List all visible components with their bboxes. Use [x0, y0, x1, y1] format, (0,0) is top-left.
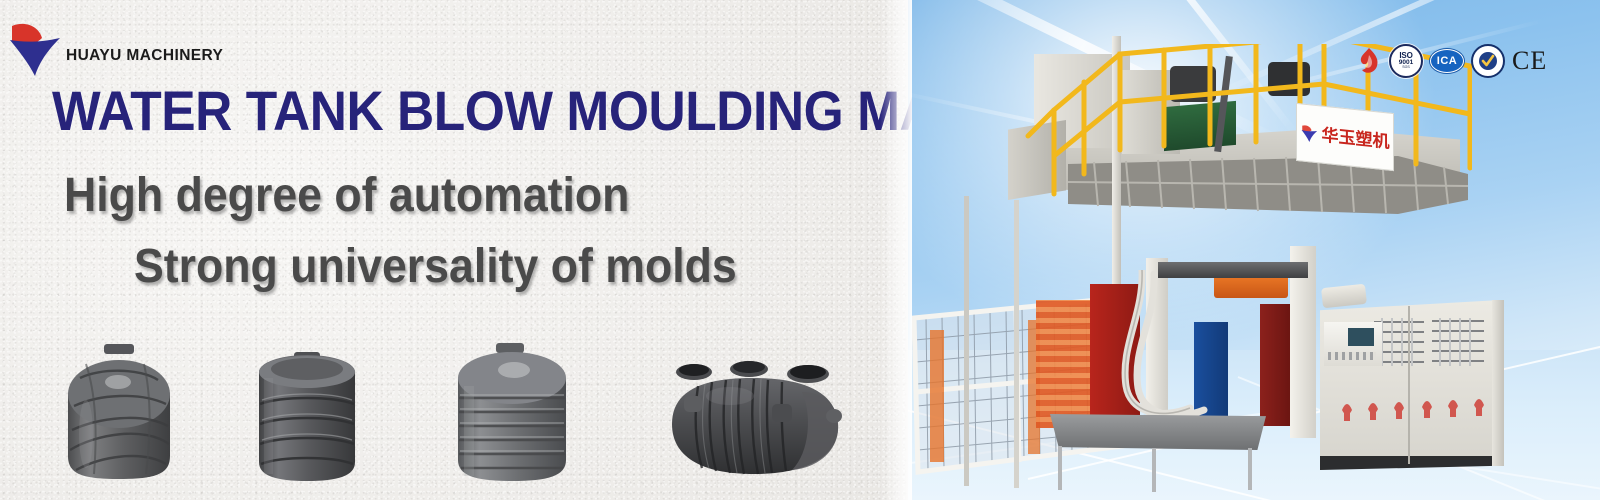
quality-tick-badge — [1471, 44, 1505, 78]
cabinet-vent-louvers — [1374, 318, 1486, 366]
cqc-flame-mark-icon — [1356, 47, 1382, 75]
page-title: WATER TANK BLOW MOULDING MACHINE — [52, 83, 912, 139]
exhaust-duct — [1321, 284, 1367, 308]
product-vertical-ribbed-water-tank[interactable] — [444, 334, 580, 484]
trough-leg-3 — [1248, 448, 1252, 490]
hmi-keypad[interactable] — [1328, 352, 1376, 360]
machine-photo: 华玉塑机 — [908, 0, 1600, 500]
hmi-screen[interactable] — [1348, 328, 1374, 346]
cabinet-warning-symbols — [1336, 392, 1496, 428]
subheading-automation: High degree of automation — [64, 172, 629, 220]
brand-name: HUAYU MACHINERY — [66, 47, 223, 65]
trough-leg-1 — [1058, 446, 1062, 490]
brand-logo[interactable]: HUAYU MACHINERY — [8, 18, 223, 78]
machine-sign-text: 华玉塑机 — [1322, 126, 1390, 150]
support-post-left — [964, 196, 969, 486]
collection-trough — [1050, 414, 1266, 450]
certification-badges: ISO 9001 SGS ICA CE — [1356, 44, 1547, 78]
product-banner: HUAYU MACHINERY WATER TANK BLOW MOULDING… — [0, 0, 1600, 500]
left-text-panel: HUAYU MACHINERY WATER TANK BLOW MOULDING… — [0, 0, 912, 500]
trough-leg-2 — [1152, 448, 1156, 492]
support-post-left-2 — [1014, 200, 1019, 488]
ce-mark-icon: CE — [1512, 46, 1547, 76]
cabinet-right-frame — [1492, 300, 1504, 466]
cabinet-door-seam — [1408, 306, 1410, 464]
huayu-bird-logo-icon — [8, 18, 66, 78]
hose-bundle — [1098, 270, 1258, 440]
product-vertical-wave-rib-water-tank[interactable] — [238, 338, 380, 484]
iso-line-3: SGS — [1402, 66, 1410, 70]
ica-badge: ICA — [1430, 49, 1464, 73]
iso-9001-badge: ISO 9001 SGS — [1389, 44, 1423, 78]
sign-logo-icon — [1301, 122, 1319, 144]
product-image-row — [0, 318, 912, 490]
product-vertical-spiral-rib-water-tank[interactable] — [46, 334, 196, 484]
machine-brand-sign: 华玉塑机 — [1296, 103, 1394, 171]
subheading-molds: Strong universality of molds — [134, 243, 737, 291]
product-horizontal-septic-tank[interactable] — [660, 352, 850, 484]
